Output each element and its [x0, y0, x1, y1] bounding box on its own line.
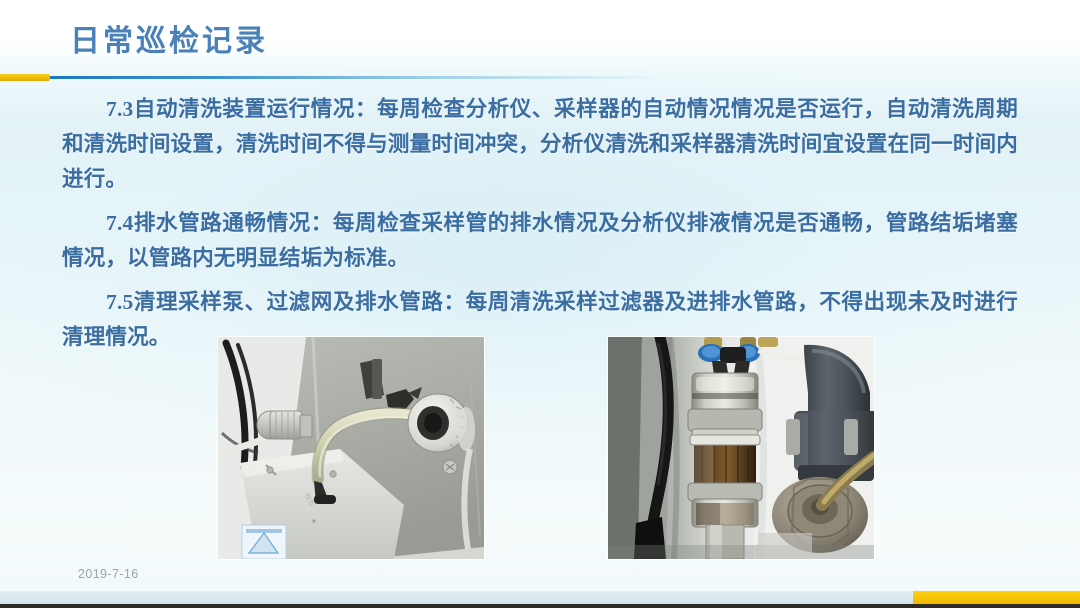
footer-bar-gold-accent [913, 591, 1080, 604]
filter-drain-pipe-photo-graphic [608, 337, 874, 559]
page-title: 日常巡检记录 [70, 16, 268, 60]
footer-bottom-edge [0, 604, 1080, 608]
slide-canvas: 日常巡检记录 7.3自动清洗装置运行情况：每周检查分析仪、采样器的自动情况情况是… [0, 0, 1080, 608]
body-text-block: 7.3自动清洗装置运行情况：每周检查分析仪、采样器的自动情况情况是否运行，自动清… [62, 92, 1018, 355]
filter-drain-pipe-photo [608, 337, 874, 559]
title-divider-gold-accent [0, 74, 50, 81]
paragraph-7-3: 7.3自动清洗装置运行情况：每周检查分析仪、采样器的自动情况情况是否运行，自动清… [62, 92, 1018, 197]
analyzer-tubing-photo: 标签 [218, 337, 484, 559]
slide-date: 2019-7-16 [78, 567, 139, 581]
paragraph-7-4: 7.4排水管路通畅情况：每周检查采样管的排水情况及分析仪排液情况是否通畅，管路结… [62, 206, 1018, 276]
title-divider-blue-line [46, 76, 666, 79]
title-divider [0, 74, 1080, 81]
paragraph-7-5: 7.5清理采样泵、过滤网及排水管路：每周清洗采样过滤器及进排水管路，不得出现未及… [62, 285, 1018, 355]
analyzer-tubing-photo-graphic: 标签 [218, 337, 484, 559]
